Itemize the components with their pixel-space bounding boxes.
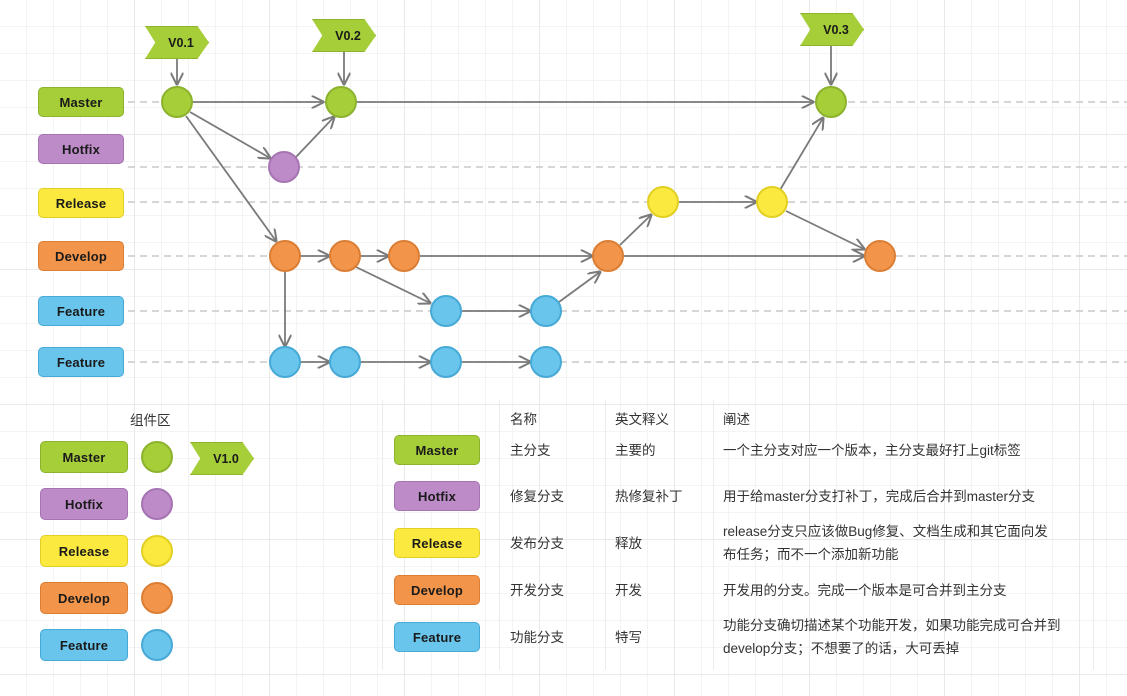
legend-dot-release[interactable] <box>141 535 173 567</box>
table-cell-english-master: 主要的 <box>615 441 656 460</box>
lane-label-master[interactable]: Master <box>38 87 124 117</box>
commit-node-feature2-2[interactable] <box>329 346 361 378</box>
legend-pill-master[interactable]: Master <box>40 441 128 473</box>
legend-pill-release[interactable]: Release <box>40 535 128 567</box>
commit-node-feature1-2[interactable] <box>530 295 562 327</box>
table-badge-release[interactable]: Release <box>394 528 480 558</box>
table-cell-name-release: 发布分支 <box>510 534 564 553</box>
commit-node-feature2-1[interactable] <box>269 346 301 378</box>
legend-dot-master[interactable] <box>141 441 173 473</box>
table-badge-develop[interactable]: Develop <box>394 575 480 605</box>
table-cell-english-release: 释放 <box>615 534 642 553</box>
table-col-divider-2 <box>605 400 606 670</box>
table-badge-hotfix[interactable]: Hotfix <box>394 481 480 511</box>
commit-node-release-1[interactable] <box>647 186 679 218</box>
table-cell-name-master: 主分支 <box>510 441 551 460</box>
lane-label-release[interactable]: Release <box>38 188 124 218</box>
lane-label-feature-1[interactable]: Feature <box>38 296 124 326</box>
table-cell-english-feature: 特写 <box>615 628 642 647</box>
table-cell-name-hotfix: 修复分支 <box>510 487 564 506</box>
table-col-divider-1 <box>499 400 500 670</box>
table-header-desc: 阐述 <box>723 410 750 429</box>
commit-node-develop-2[interactable] <box>329 240 361 272</box>
commit-node-master-2[interactable] <box>325 86 357 118</box>
commit-node-develop-1[interactable] <box>269 240 301 272</box>
legend-dot-develop[interactable] <box>141 582 173 614</box>
table-badge-feature[interactable]: Feature <box>394 622 480 652</box>
table-cell-desc-master: 一个主分支对应一个版本，主分支最好打上git标签 <box>723 441 1021 460</box>
table-cell-desc-develop: 开发用的分支。完成一个版本是可合并到主分支 <box>723 581 1007 600</box>
commit-node-master-3[interactable] <box>815 86 847 118</box>
table-col-divider-0 <box>382 400 383 670</box>
commit-node-develop-5[interactable] <box>864 240 896 272</box>
lane-label-hotfix[interactable]: Hotfix <box>38 134 124 164</box>
table-badge-master[interactable]: Master <box>394 435 480 465</box>
legend-pill-hotfix[interactable]: Hotfix <box>40 488 128 520</box>
legend-dot-feature[interactable] <box>141 629 173 661</box>
table-header-name: 名称 <box>510 410 537 429</box>
commit-node-release-2[interactable] <box>756 186 788 218</box>
commit-node-feature2-4[interactable] <box>530 346 562 378</box>
commit-node-feature1-1[interactable] <box>430 295 462 327</box>
lane-label-develop[interactable]: Develop <box>38 241 124 271</box>
commit-node-develop-4[interactable] <box>592 240 624 272</box>
table-col-divider-3 <box>713 400 714 670</box>
table-cell-name-feature: 功能分支 <box>510 628 564 647</box>
table-cell-desc-feature-line1: 功能分支确切描述某个功能开发，如果功能完成可合并到 <box>723 616 1061 635</box>
legend-pill-feature[interactable]: Feature <box>40 629 128 661</box>
legend-dot-hotfix[interactable] <box>141 488 173 520</box>
commit-node-develop-3[interactable] <box>388 240 420 272</box>
component-area-title: 组件区 <box>130 409 171 429</box>
legend-pill-develop[interactable]: Develop <box>40 582 128 614</box>
table-cell-desc-feature-line2: develop分支；不想要了的话，大可丢掉 <box>723 639 959 658</box>
table-col-divider-4 <box>1093 400 1094 670</box>
table-cell-english-hotfix: 热修复补丁 <box>615 487 683 506</box>
table-cell-desc-hotfix: 用于给master分支打补丁，完成后合并到master分支 <box>723 487 1035 506</box>
table-cell-desc-release-line1: release分支只应该做Bug修复、文档生成和其它面向发 <box>723 522 1048 541</box>
table-cell-name-develop: 开发分支 <box>510 581 564 600</box>
commit-node-feature2-3[interactable] <box>430 346 462 378</box>
table-cell-english-develop: 开发 <box>615 581 642 600</box>
table-header-english: 英文释义 <box>615 410 669 429</box>
lane-label-feature-2[interactable]: Feature <box>38 347 124 377</box>
commit-node-hotfix-1[interactable] <box>268 151 300 183</box>
table-cell-desc-release-line2: 布任务；而不一个添加新功能 <box>723 545 899 564</box>
commit-node-master-1[interactable] <box>161 86 193 118</box>
